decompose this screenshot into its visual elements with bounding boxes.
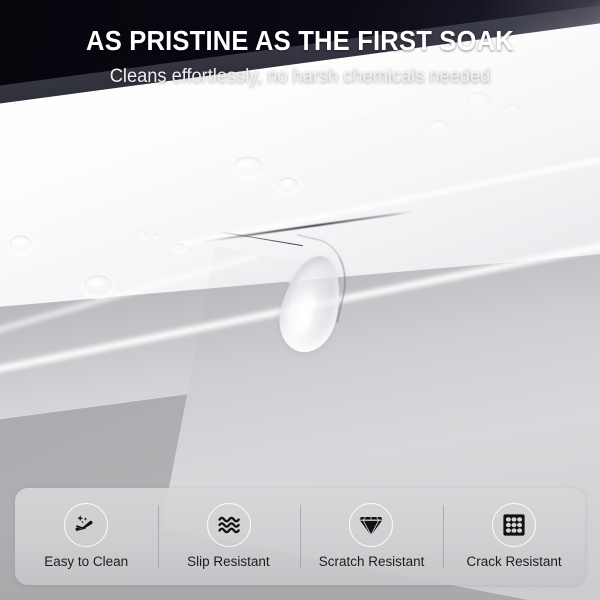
feature-item-slip-resistant[interactable]: Slip Resistant (158, 488, 301, 585)
feature-item-scratch-resistant[interactable]: Scratch Resistant (300, 488, 443, 585)
water-droplet (139, 231, 147, 238)
diamond-icon (349, 503, 393, 547)
water-droplet (82, 274, 114, 298)
feature-label: Slip Resistant (188, 554, 270, 570)
mesh-grid-icon (492, 503, 536, 547)
feature-label: Crack Resistant (466, 554, 561, 570)
subheadline: Cleans effortlessly, no harsh chemicals … (12, 66, 588, 88)
water-droplet (429, 120, 449, 135)
product-feature-banner: AS PRISTINE AS THE FIRST SOAK Cleans eff… (0, 0, 600, 600)
headline: AS PRISTINE AS THE FIRST SOAK (21, 27, 579, 56)
feature-label: Easy to Clean (44, 554, 128, 570)
water-droplet (466, 92, 492, 112)
banner-header: AS PRISTINE AS THE FIRST SOAK Cleans eff… (0, 0, 600, 88)
water-droplet (504, 104, 521, 117)
water-droplet (152, 233, 159, 239)
feature-bar: Easy to Clean Slip Resistant (15, 488, 585, 585)
water-droplet (8, 234, 33, 255)
water-droplet (276, 176, 300, 195)
water-droplet (359, 118, 371, 128)
feature-item-crack-resistant[interactable]: Crack Resistant (443, 488, 586, 585)
feature-label: Scratch Resistant (318, 554, 424, 570)
water-droplet (232, 155, 264, 179)
feature-item-easy-to-clean[interactable]: Easy to Clean (15, 488, 158, 585)
waves-icon (207, 503, 251, 547)
sparkle-wipe-icon (64, 503, 108, 547)
water-droplet (173, 242, 186, 253)
